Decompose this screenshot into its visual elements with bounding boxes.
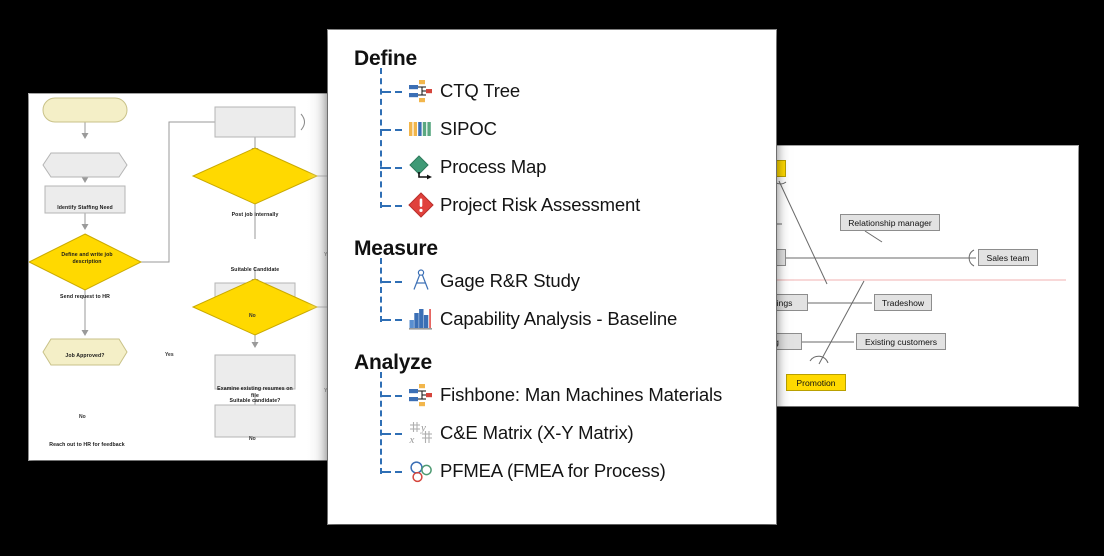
- tool-list-measure: Gage R&R Study Capability Analysi: [354, 262, 776, 338]
- flow-node-suitable1[interactable]: Suitable Candidate: [215, 267, 295, 274]
- svg-text:y: y: [420, 422, 426, 434]
- fishbone-node-tradeshow[interactable]: Tradeshow: [874, 294, 932, 311]
- flow-node-reachout[interactable]: Reach out to HR for feedback: [49, 442, 125, 449]
- svg-text:x: x: [409, 434, 415, 446]
- tool-label: Fishbone: Man Machines Materials: [440, 384, 722, 406]
- tool-item-gage-rr[interactable]: Gage R&R Study: [354, 262, 776, 300]
- tool-item-capability-analysis[interactable]: Capability Analysis - Baseline: [354, 300, 776, 338]
- tool-label: Project Risk Assessment: [440, 194, 640, 216]
- flowchart-canvas: [29, 94, 341, 460]
- fishbone-node-sales-team[interactable]: Sales team: [978, 249, 1038, 266]
- sipoc-icon: [408, 116, 434, 142]
- tool-label: PFMEA (FMEA for Process): [440, 460, 666, 482]
- pfmea-icon: [408, 458, 434, 484]
- tool-list-define: CTQ Tree SIPOC: [354, 72, 776, 224]
- tool-label: Capability Analysis - Baseline: [440, 308, 677, 330]
- panel-six-sigma-tools[interactable]: Define: [328, 30, 776, 524]
- tool-label: C&E Matrix (X-Y Matrix): [440, 422, 634, 444]
- tool-item-risk-assessment[interactable]: Project Risk Assessment: [354, 186, 776, 224]
- fishbone-canvas: [752, 146, 1078, 406]
- tool-label: Gage R&R Study: [440, 270, 580, 292]
- document-fishbone[interactable]: ple ers Relationship manager Sales team …: [752, 146, 1078, 406]
- tool-label: Process Map: [440, 156, 546, 178]
- flow-edge-label-no-3: No: [249, 436, 256, 442]
- process-map-icon: [408, 154, 434, 180]
- phase-heading-define: Define: [354, 48, 776, 70]
- ctq-tree-icon: [408, 78, 434, 104]
- screenshot-stage: Identify Staffing Need Define and write …: [0, 0, 1104, 556]
- tool-label: SIPOC: [440, 118, 497, 140]
- fishbone-node-existing-customers[interactable]: Existing customers: [856, 333, 946, 350]
- fishbone-node-promotion[interactable]: Promotion: [786, 374, 846, 391]
- flow-node-post[interactable]: Post job internally: [215, 212, 295, 219]
- risk-assessment-icon: [408, 192, 434, 218]
- tool-item-sipoc[interactable]: SIPOC: [354, 110, 776, 148]
- tool-item-ce-matrix[interactable]: y x C&E Matrix (X-Y Matrix): [354, 414, 776, 452]
- flow-node-approved[interactable]: Job Approved?: [45, 353, 125, 360]
- tool-item-fishbone[interactable]: Fishbone: Man Machines Materials: [354, 376, 776, 414]
- document-flowchart[interactable]: Identify Staffing Need Define and write …: [29, 94, 341, 460]
- phase-heading-measure: Measure: [354, 238, 776, 260]
- histogram-icon: [408, 306, 434, 332]
- compass-icon: [408, 268, 434, 294]
- flow-edge-label-no-1: No: [79, 414, 86, 420]
- flow-node-send[interactable]: Send request to HR: [45, 294, 125, 301]
- flow-node-define[interactable]: Define and write job description: [49, 252, 125, 266]
- tool-item-ctq-tree[interactable]: CTQ Tree: [354, 72, 776, 110]
- flow-edge-label-no-2: No: [249, 313, 256, 319]
- flow-edge-label-yes-1: Yes: [165, 352, 174, 358]
- phase-heading-analyze: Analyze: [354, 352, 776, 374]
- fishbone-icon: [408, 382, 434, 408]
- tool-label: CTQ Tree: [440, 80, 520, 102]
- fishbone-node-relationship-manager[interactable]: Relationship manager: [840, 214, 940, 231]
- xy-matrix-icon: y x: [408, 420, 434, 446]
- tool-item-pfmea[interactable]: PFMEA (FMEA for Process): [354, 452, 776, 490]
- tool-list-analyze: Fishbone: Man Machines Materials: [354, 376, 776, 490]
- tool-item-process-map[interactable]: Process Map: [354, 148, 776, 186]
- flow-node-identify[interactable]: Identify Staffing Need: [43, 205, 127, 212]
- flow-node-suitable2[interactable]: Suitable candidate?: [215, 398, 295, 405]
